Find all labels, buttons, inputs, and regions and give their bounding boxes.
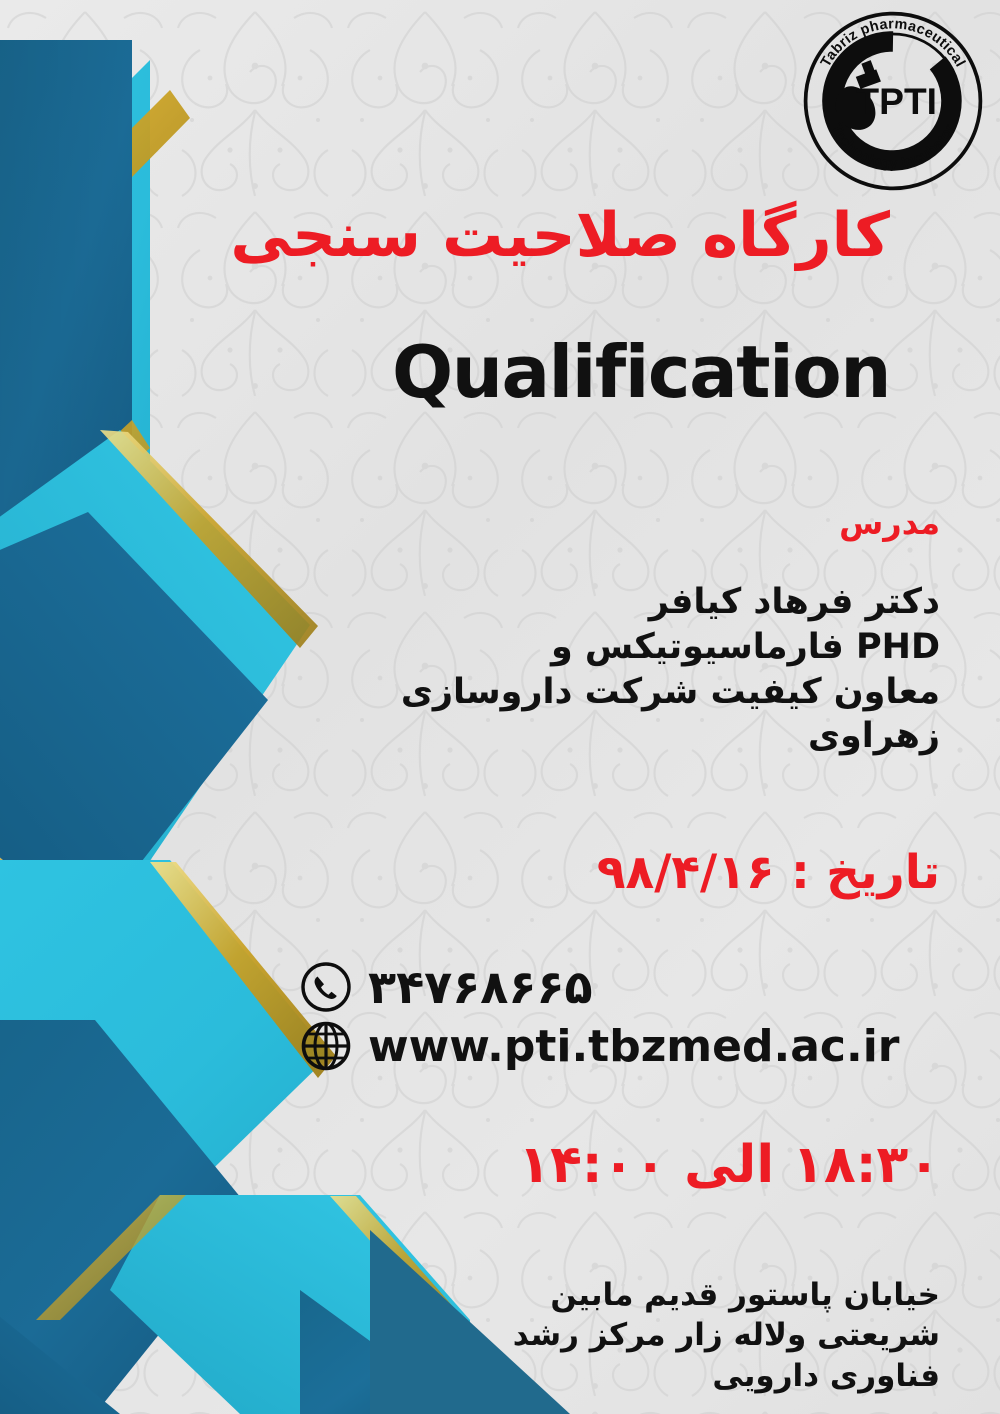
address-line-3: فناوری دارویی	[440, 1356, 940, 1396]
event-time: ۱۸:۳۰ الی ۱۴:۰۰	[380, 1135, 940, 1196]
poster-canvas: TPTI Tabriz pharmaceutical Technology In…	[0, 0, 1000, 1414]
instructor-label: مدرس	[600, 505, 940, 543]
website-row[interactable]: www.pti.tbzmed.ac.ir	[300, 1020, 920, 1072]
instructor-line-1: دکتر فرهاد کیافر	[280, 580, 940, 625]
contact-block: ۳۴۷۶۸۶۶۵ www.pti.tbzmed.ac.ir	[300, 960, 920, 1078]
instructor-details: دکتر فرهاد کیافر PHD فارماسیوتیکس و معاو…	[280, 580, 940, 759]
instructor-line-3: معاون کیفیت شرکت داروسازی زهراوی	[280, 670, 940, 760]
logo-center-text: TPTI	[856, 80, 937, 122]
event-address: خیابان پاستور قدیم مابین شریعتی ولاله زا…	[440, 1275, 940, 1396]
event-date: تاریخ : ۹۸/۴/۱۶	[300, 845, 940, 900]
phone-icon	[300, 961, 352, 1013]
poster-title-en: Qualification	[200, 330, 890, 415]
phone-number: ۳۴۷۶۸۶۶۵	[368, 960, 593, 1014]
instructor-line-2: PHD فارماسیوتیکس و	[280, 625, 940, 670]
tpti-logo: TPTI Tabriz pharmaceutical Technology In…	[800, 8, 986, 194]
phone-row[interactable]: ۳۴۷۶۸۶۶۵	[300, 960, 920, 1014]
globe-icon	[300, 1020, 352, 1072]
poster-title-fa: کارگاه صلاحیت سنجی	[200, 200, 890, 272]
website-url: www.pti.tbzmed.ac.ir	[368, 1021, 899, 1072]
address-line-1: خیابان پاستور قدیم مابین	[440, 1275, 940, 1315]
address-line-2: شریعتی ولاله زار مرکز رشد	[440, 1315, 940, 1355]
